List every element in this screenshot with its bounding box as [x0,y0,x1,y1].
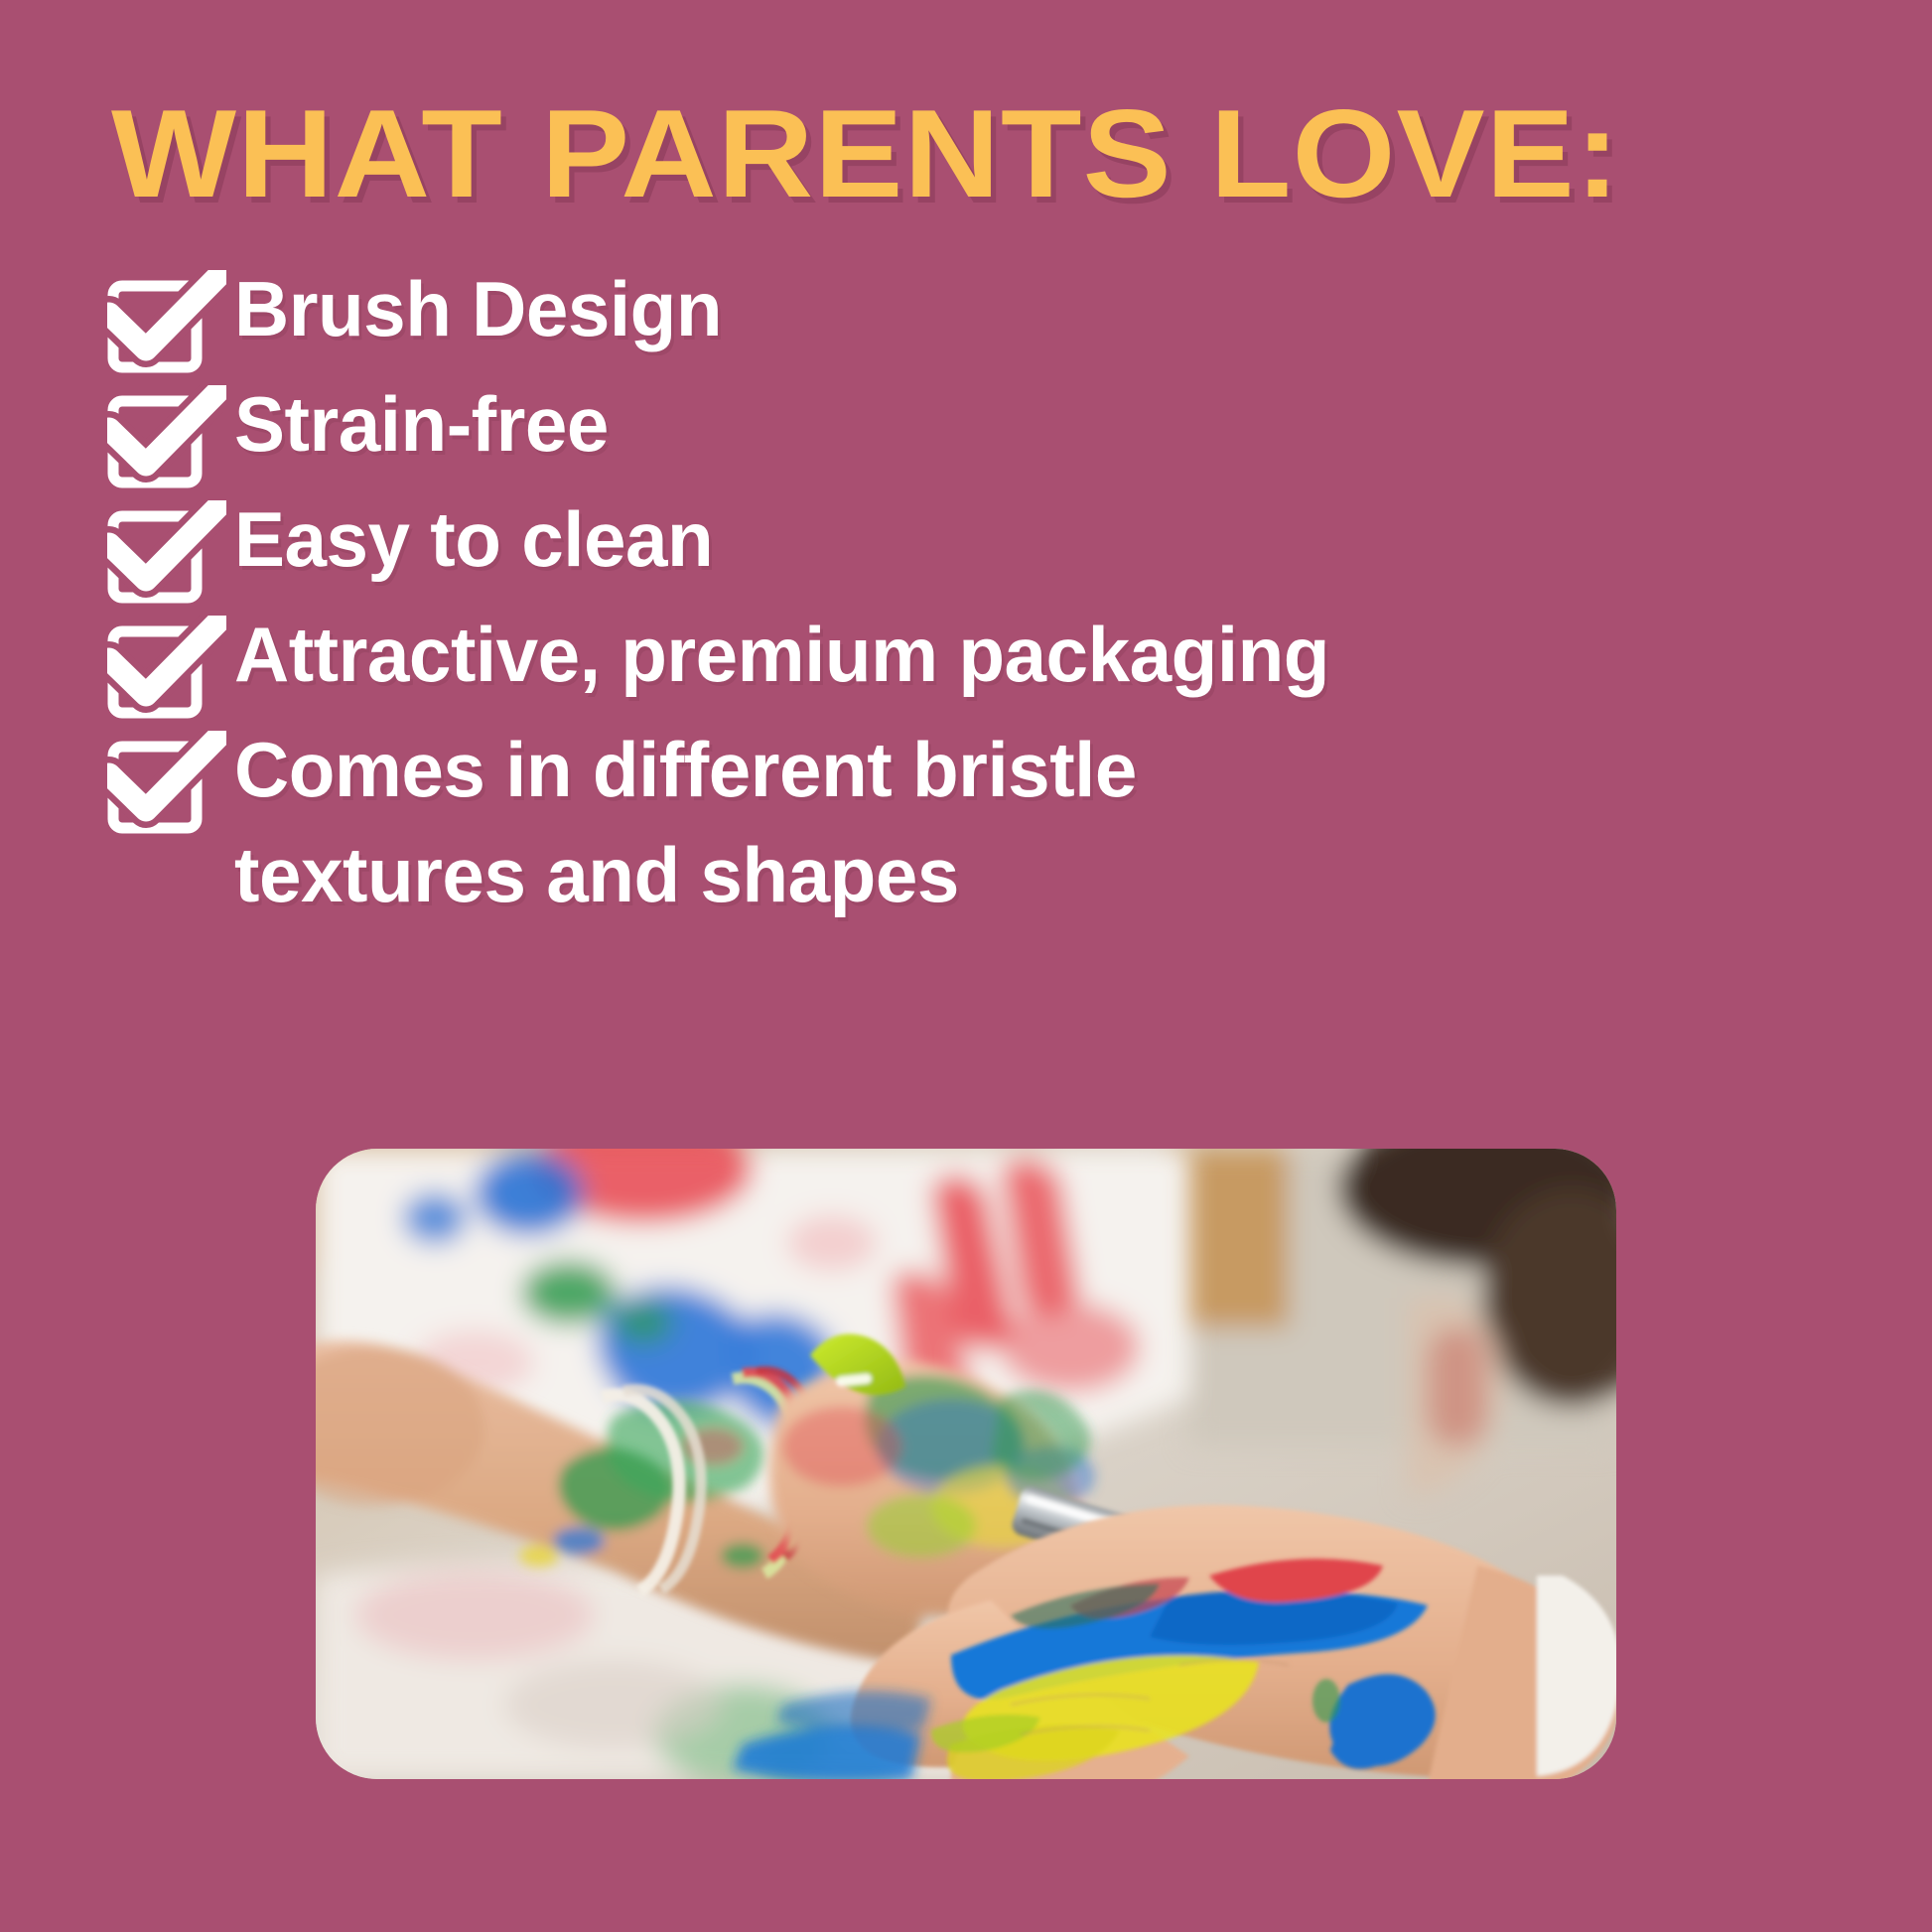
list-item-label: Brush Design [234,256,1793,361]
checkbox-checked-icon [107,256,234,363]
checkbox-checked-icon [107,602,234,709]
list-item: Attractive, premium packaging [107,602,1825,709]
list-item-label: Attractive, premium packaging [234,602,1793,707]
list-item-label: Easy to clean [234,486,1793,592]
list-item: Comes in different bristle textures and … [107,717,1825,927]
benefits-list: Brush Design Strain-free [107,256,1825,935]
poster-canvas: WHAT PARENTS LOVE: Brush Design [0,0,1932,1932]
list-item: Brush Design [107,256,1825,363]
checkbox-checked-icon [107,717,234,824]
list-item: Strain-free [107,371,1825,479]
checkbox-checked-icon [107,371,234,479]
list-item: Easy to clean [107,486,1825,594]
list-item-label: Comes in different bristle textures and … [234,717,1793,927]
kids-hand-painting-photo [316,1149,1616,1779]
page-title: WHAT PARENTS LOVE: [111,91,1620,216]
list-item-label: Strain-free [234,371,1793,477]
checkbox-checked-icon [107,486,234,594]
